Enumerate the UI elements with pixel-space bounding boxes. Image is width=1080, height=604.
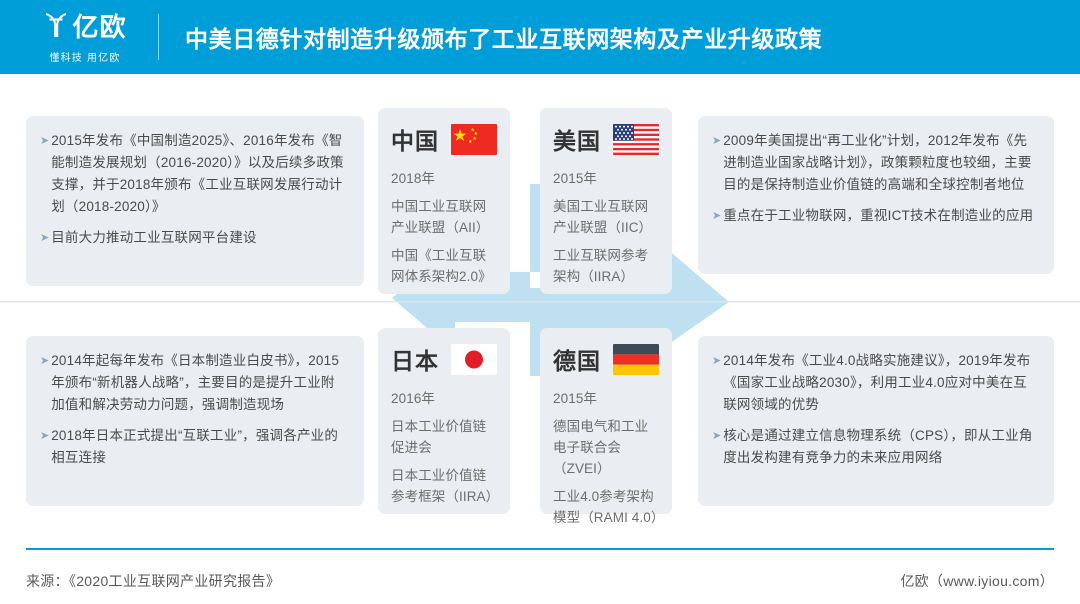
bullet-item: ➤ 2015年发布《中国制造2025》、2016年发布《智能制造发展规划（201… <box>40 130 348 218</box>
bullet-text: 2015年发布《中国制造2025》、2016年发布《智能制造发展规划（2016-… <box>51 130 348 218</box>
yiou-leaf-icon <box>43 11 69 44</box>
bullet-text: 重点在于工业物联网，重视ICT技术在制造业的应用 <box>723 205 1038 227</box>
bullet-text: 2014年发布《工业4.0战略实施建议》，2019年发布《国家工业战略2030》… <box>723 350 1038 416</box>
bullet-item: ➤ 核心是通过建立信息物理系统（CPS），即从工业角度出发构建有竞争力的未来应用… <box>712 425 1038 469</box>
country-card-china[interactable]: 中国 2018年 中国工业互联网产业联盟（AII） 中国《工业互联网体系架构2.… <box>378 108 510 294</box>
country-year: 2015年 <box>553 168 659 189</box>
logo-wordmark: 亿欧 <box>72 14 126 40</box>
country-organization: 美国工业互联网产业联盟（IIC） <box>553 196 659 238</box>
footer-source: 来源：《2020工业互联网产业研究报告》 <box>26 571 280 591</box>
country-framework: 日本工业价值链参考框架（IIRA） <box>391 465 497 507</box>
bullet-arrow-icon: ➤ <box>40 130 49 152</box>
footer-brand: 亿欧（www.iyiou.com） <box>900 571 1054 591</box>
content-stage: ➤ 2015年发布《中国制造2025》、2016年发布《智能制造发展规划（201… <box>0 74 1080 534</box>
country-name: 日本 <box>391 342 439 376</box>
logo-main: 亿欧 <box>43 11 126 44</box>
flag-germany-icon <box>613 344 659 375</box>
bullet-item: ➤ 重点在于工业物联网，重视ICT技术在制造业的应用 <box>712 205 1038 227</box>
brand-logo: 亿欧 懂科技 用亿欧 <box>26 11 144 64</box>
bullet-arrow-icon: ➤ <box>712 205 721 227</box>
card-header: 美国 <box>553 122 659 156</box>
page-title: 中美日德针对制造升级颁布了工业互联网架构及产业升级政策 <box>185 20 822 54</box>
country-name: 中国 <box>391 122 439 156</box>
japan-notes-panel: ➤ 2014年起每年发布《日本制造业白皮书》，2015年颁布“新机器人战略”，主… <box>26 336 364 506</box>
china-notes-panel: ➤ 2015年发布《中国制造2025》、2016年发布《智能制造发展规划（201… <box>26 116 364 286</box>
bullet-text: 核心是通过建立信息物理系统（CPS），即从工业角度出发构建有竞争力的未来应用网络 <box>723 425 1038 469</box>
bullet-item: ➤ 2009年美国提出“再工业化”计划，2012年发布《先进制造业国家战略计划》… <box>712 130 1038 196</box>
country-card-germany[interactable]: 德国 2015年 德国电气和工业电子联合会（ZVEI） 工业4.0参考架构模型（… <box>540 328 672 514</box>
card-header: 中国 <box>391 122 497 156</box>
usa-notes-panel: ➤ 2009年美国提出“再工业化”计划，2012年发布《先进制造业国家战略计划》… <box>698 116 1054 274</box>
flag-usa-icon <box>613 124 659 155</box>
bullet-item: ➤ 2018年日本正式提出“互联工业”，强调各产业的相互连接 <box>40 425 348 469</box>
country-name: 美国 <box>553 122 601 156</box>
country-card-usa[interactable]: 美国 <box>540 108 672 294</box>
header-divider <box>158 14 159 60</box>
bullet-arrow-icon: ➤ <box>40 350 49 372</box>
bullet-arrow-icon: ➤ <box>712 350 721 372</box>
country-organization: 中国工业互联网产业联盟（AII） <box>391 196 497 238</box>
country-year: 2016年 <box>391 388 497 409</box>
logo-tagline: 懂科技 用亿欧 <box>49 49 120 64</box>
bullet-text: 目前大力推动工业互联网平台建设 <box>51 227 348 249</box>
page-header: 亿欧 懂科技 用亿欧 中美日德针对制造升级颁布了工业互联网架构及产业升级政策 <box>0 0 1080 74</box>
flag-china-icon <box>451 124 497 155</box>
bullet-item: ➤ 2014年起每年发布《日本制造业白皮书》，2015年颁布“新机器人战略”，主… <box>40 350 348 416</box>
page-footer: 来源：《2020工业互联网产业研究报告》 亿欧（www.iyiou.com） <box>0 558 1080 604</box>
bullet-item: ➤ 2014年发布《工业4.0战略实施建议》，2019年发布《国家工业战略203… <box>712 350 1038 416</box>
bullet-arrow-icon: ➤ <box>712 425 721 447</box>
bullet-text: 2018年日本正式提出“互联工业”，强调各产业的相互连接 <box>51 425 348 469</box>
bullet-arrow-icon: ➤ <box>40 227 49 249</box>
bullet-arrow-icon: ➤ <box>40 425 49 447</box>
country-name: 德国 <box>553 342 601 376</box>
country-year: 2015年 <box>553 388 659 409</box>
bullet-arrow-icon: ➤ <box>712 130 721 152</box>
country-organization: 日本工业价值链促进会 <box>391 416 497 458</box>
country-framework: 工业4.0参考架构模型（RAMI 4.0） <box>553 486 659 528</box>
card-header: 德国 <box>553 342 659 376</box>
country-card-japan[interactable]: 日本 2016年 日本工业价值链促进会 日本工业价值链参考框架（IIRA） <box>378 328 510 514</box>
country-framework: 中国《工业互联网体系架构2.0》 <box>391 245 497 287</box>
bullet-text: 2014年起每年发布《日本制造业白皮书》，2015年颁布“新机器人战略”，主要目… <box>51 350 348 416</box>
flag-japan-icon <box>451 344 497 375</box>
country-year: 2018年 <box>391 168 497 189</box>
card-header: 日本 <box>391 342 497 376</box>
bullet-text: 2009年美国提出“再工业化”计划，2012年发布《先进制造业国家战略计划》，政… <box>723 130 1038 196</box>
germany-notes-panel: ➤ 2014年发布《工业4.0战略实施建议》，2019年发布《国家工业战略203… <box>698 336 1054 506</box>
country-organization: 德国电气和工业电子联合会（ZVEI） <box>553 416 659 479</box>
footer-divider <box>26 548 1054 550</box>
bullet-item: ➤ 目前大力推动工业互联网平台建设 <box>40 227 348 249</box>
country-framework: 工业互联网参考架构（IIRA） <box>553 245 659 287</box>
